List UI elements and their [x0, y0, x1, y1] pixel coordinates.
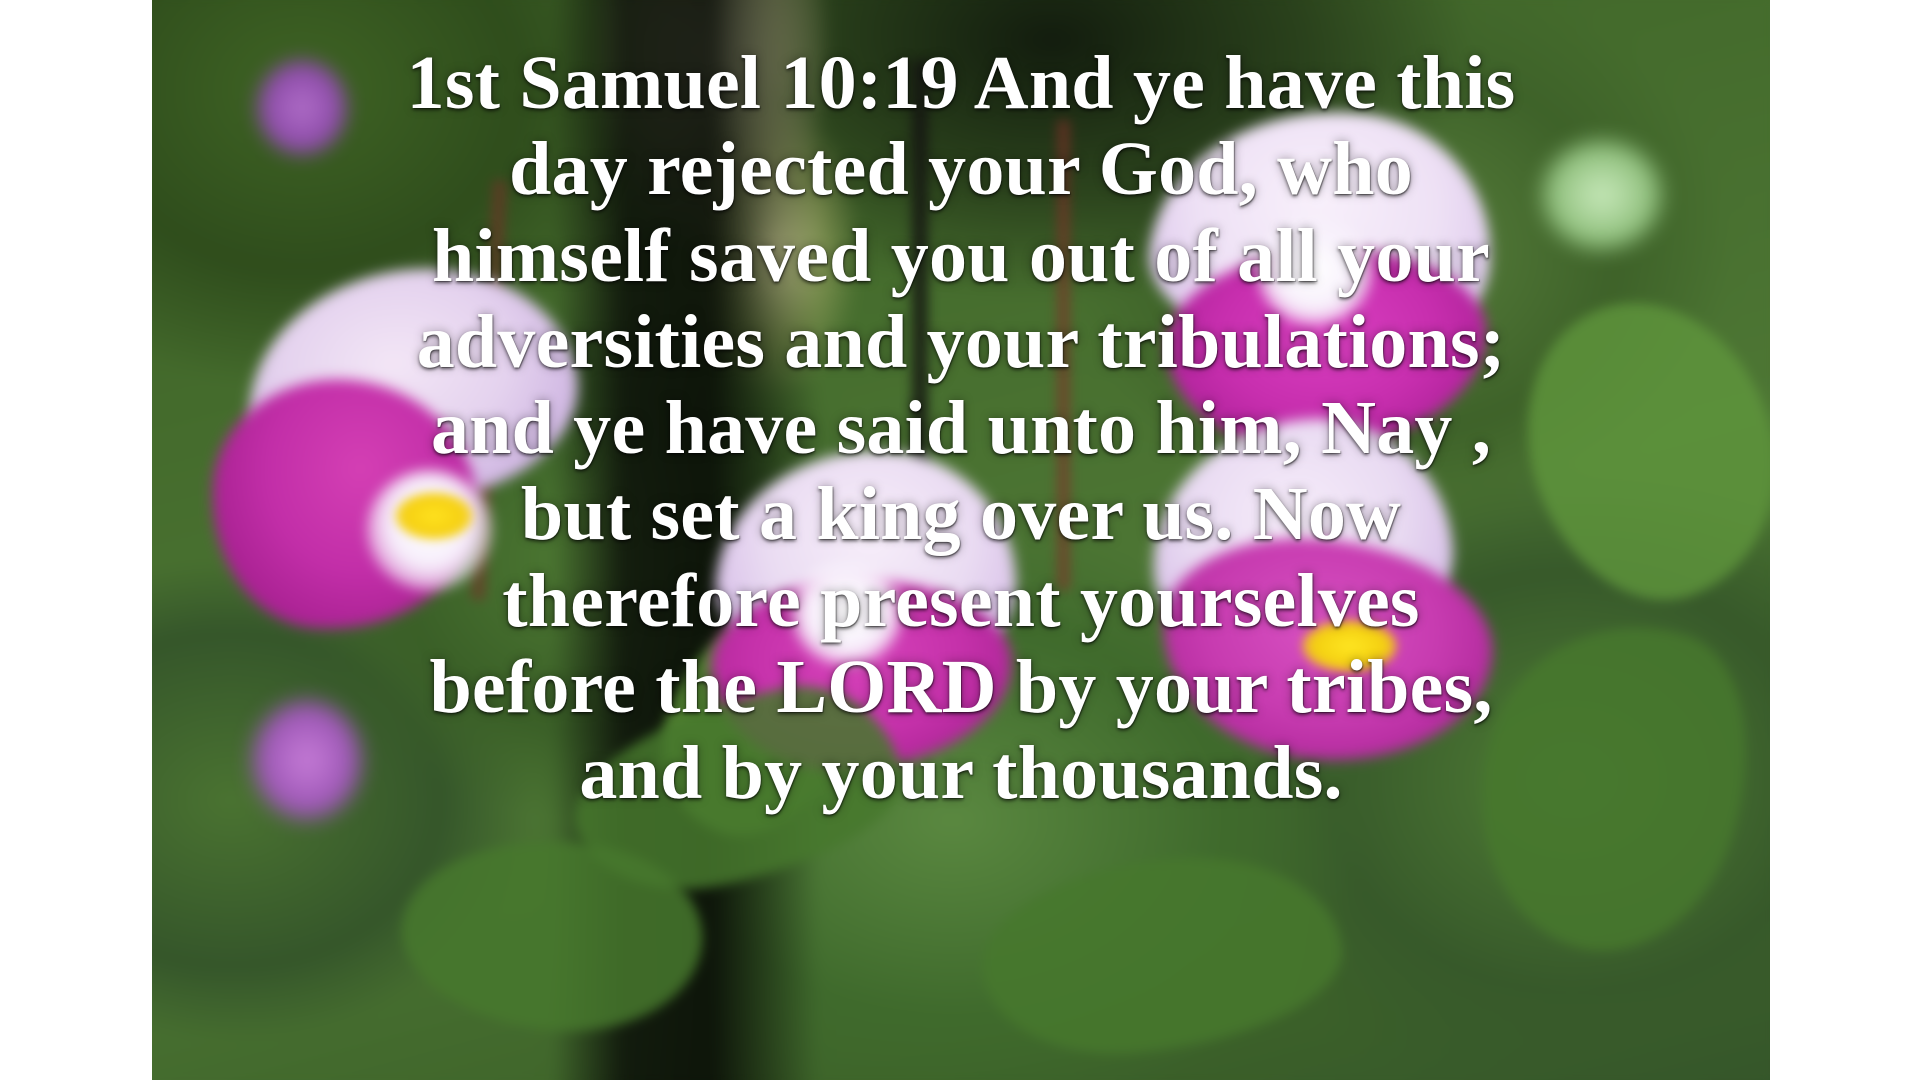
verse-overlay: 1st Samuel 10:19 And ye have this day re…: [152, 0, 1770, 1080]
left-white-margin: [0, 0, 152, 1080]
right-white-margin: [1770, 0, 1920, 1080]
scripture-verse-text: 1st Samuel 10:19 And ye have this day re…: [296, 40, 1626, 816]
image-canvas: 1st Samuel 10:19 And ye have this day re…: [0, 0, 1920, 1080]
